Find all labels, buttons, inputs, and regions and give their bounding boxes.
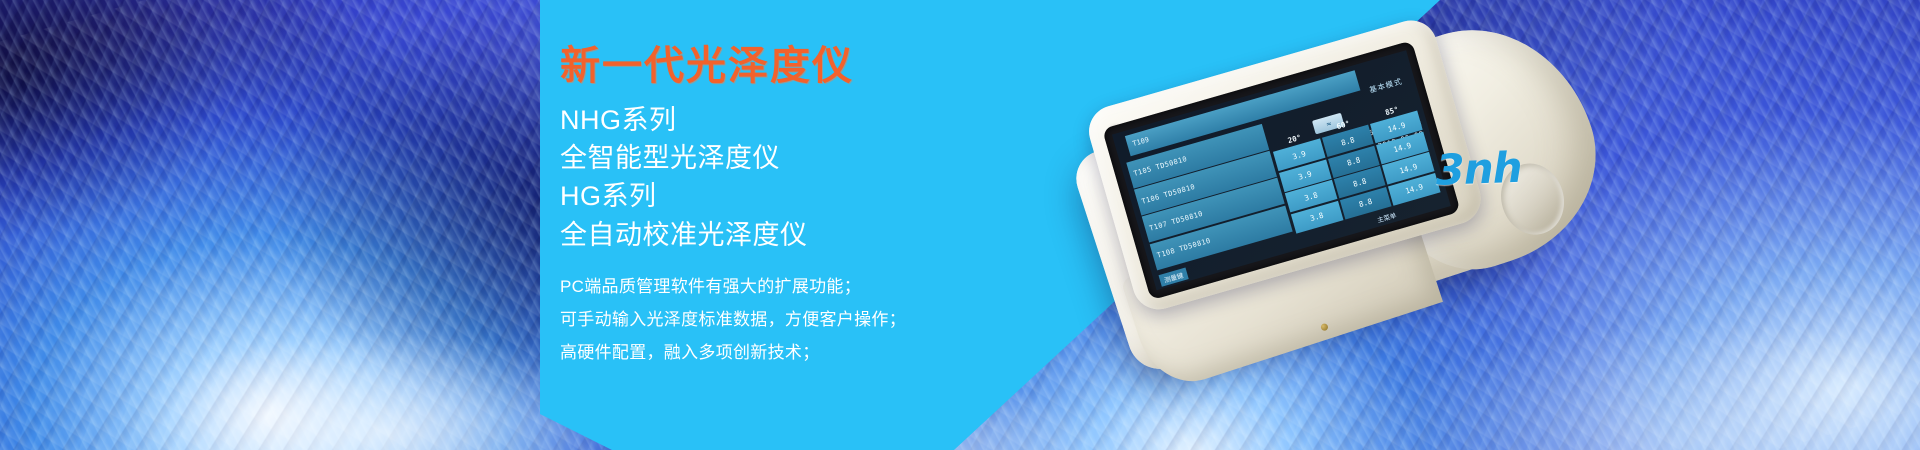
product-banner: 新一代光泽度仪 NHG系列 全智能型光泽度仪 HG系列 全自动校准光泽度仪 PC… bbox=[0, 0, 1920, 450]
feature-line-2: 可手动输入光泽度标准数据，方便客户操作； bbox=[560, 303, 1180, 336]
feature-description-list: PC端品质管理软件有强大的扩展功能； 可手动输入光泽度标准数据，方便客户操作； … bbox=[560, 270, 1180, 369]
feature-line-1: PC端品质管理软件有强大的扩展功能； bbox=[560, 270, 1180, 303]
brand-logo: 3nh bbox=[1435, 143, 1523, 195]
page-title: 新一代光泽度仪 bbox=[560, 44, 1180, 89]
screen-menu-button[interactable]: 主菜单 bbox=[1376, 210, 1398, 225]
feature-line-3: 高硬件配置，融入多项创新技术； bbox=[560, 336, 1180, 369]
screen-measurement-table: 20° 3.9 3.9 3.8 3.8 60° 8.8 8.8 8.8 8.8 bbox=[1269, 99, 1440, 234]
screen-mode-label: 基本模式 bbox=[1368, 75, 1404, 95]
screen-measure-button[interactable]: 测量键 bbox=[1159, 268, 1189, 287]
